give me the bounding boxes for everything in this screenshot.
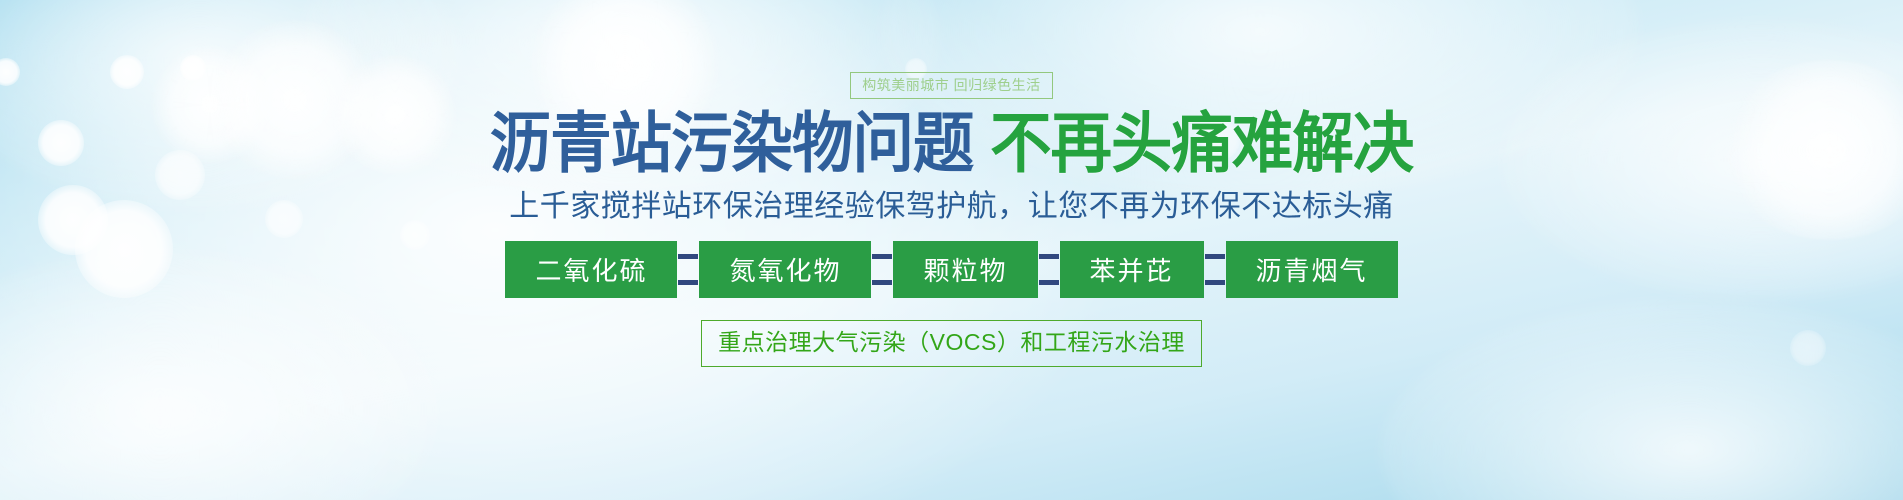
tagline-badge: 构筑美丽城市 回归绿色生活 [850,72,1052,99]
tag-so2[interactable]: 二氧化硫 [505,241,677,298]
tag-separator [677,241,699,298]
tag-separator [1038,241,1060,298]
tag-separator [1204,241,1226,298]
tag-nox[interactable]: 氮氧化物 [699,241,871,298]
promo-banner: 构筑美丽城市 回归绿色生活 沥青站污染物问题不再头痛难解决 上千家搅拌站环保治理… [0,0,1903,500]
headline-blue-text: 沥青站污染物问题 [490,106,974,180]
tag-separator [871,241,893,298]
tag-asphalt-fume[interactable]: 沥青烟气 [1226,241,1398,298]
banner-content: 构筑美丽城市 回归绿色生活 沥青站污染物问题不再头痛难解决 上千家搅拌站环保治理… [0,0,1903,500]
footer-note-box: 重点治理大气污染（VOCS）和工程污水治理 [701,320,1202,367]
tag-particulates[interactable]: 颗粒物 [893,241,1037,298]
tag-benzopyrene[interactable]: 苯并芘 [1060,241,1204,298]
headline: 沥青站污染物问题不再头痛难解决 [490,110,1413,177]
subtitle: 上千家搅拌站环保治理经验保驾护航，让您不再为环保不达标头痛 [509,190,1394,223]
pollutant-tag-strip: 二氧化硫 氮氧化物 颗粒物 苯并芘 沥青烟气 [505,241,1397,298]
headline-green-text: 不再头痛难解决 [990,106,1413,180]
